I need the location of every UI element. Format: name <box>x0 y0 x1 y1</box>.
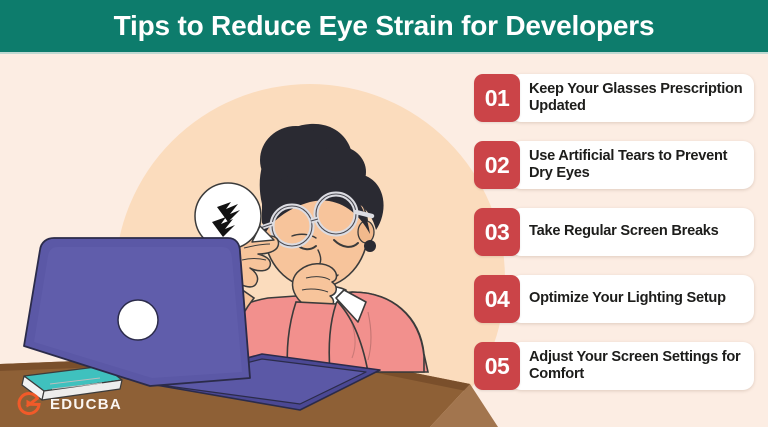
educba-e-play-icon <box>16 391 42 417</box>
tip-number-badge: 04 <box>474 275 520 323</box>
tip-number-badge: 02 <box>474 141 520 189</box>
tip-text: Adjust Your Screen Settings for Comfort <box>529 349 744 383</box>
header-banner: Tips to Reduce Eye Strain for Developers <box>0 0 768 52</box>
list-item[interactable]: 02 Use Artificial Tears to Prevent Dry E… <box>474 141 754 189</box>
infographic-root: Tips to Reduce Eye Strain for Developers <box>0 0 768 427</box>
tip-number-badge: 05 <box>474 342 520 390</box>
tip-card[interactable]: Take Regular Screen Breaks <box>510 208 754 256</box>
tip-text: Take Regular Screen Breaks <box>529 223 719 240</box>
tip-text: Optimize Your Lighting Setup <box>529 290 726 307</box>
tip-text: Keep Your Glasses Prescription Updated <box>529 81 744 115</box>
brand-name: EDUCBA <box>50 396 122 413</box>
list-item[interactable]: 05 Adjust Your Screen Settings for Comfo… <box>474 342 754 390</box>
tip-number-badge: 03 <box>474 208 520 256</box>
tip-card[interactable]: Keep Your Glasses Prescription Updated <box>510 74 754 122</box>
header-divider <box>0 52 768 54</box>
list-item[interactable]: 03 Take Regular Screen Breaks <box>474 208 754 256</box>
tip-number-badge: 01 <box>474 74 520 122</box>
tips-list: 01 Keep Your Glasses Prescription Update… <box>474 74 754 390</box>
tip-card[interactable]: Optimize Your Lighting Setup <box>510 275 754 323</box>
tip-card[interactable]: Use Artificial Tears to Prevent Dry Eyes <box>510 141 754 189</box>
tip-card[interactable]: Adjust Your Screen Settings for Comfort <box>510 342 754 390</box>
laptop-logo-icon <box>118 300 158 340</box>
page-title: Tips to Reduce Eye Strain for Developers <box>114 10 655 42</box>
list-item[interactable]: 04 Optimize Your Lighting Setup <box>474 275 754 323</box>
brand-logo[interactable]: EDUCBA <box>16 391 122 417</box>
list-item[interactable]: 01 Keep Your Glasses Prescription Update… <box>474 74 754 122</box>
tip-text: Use Artificial Tears to Prevent Dry Eyes <box>529 148 744 182</box>
